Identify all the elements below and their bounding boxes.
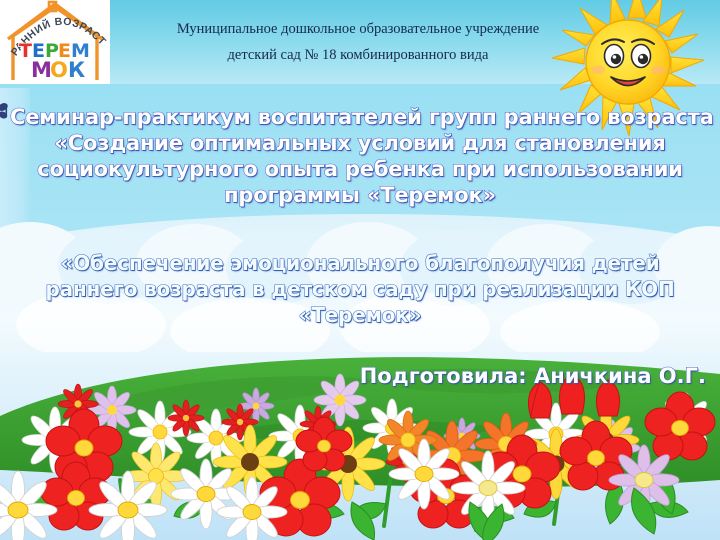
butterfly-icon	[0, 100, 18, 122]
seminar-subtitle: «Обеспечение эмоционального благополучия…	[0, 250, 720, 328]
logo-svg: РАННИЙ ВОЗРАСТ Т Е Р Е М М О К	[0, 0, 110, 84]
subtitle-line-3: «Теремок»	[0, 302, 720, 328]
presentation-slide: Муниципальное дошкольное образовательное…	[0, 0, 720, 540]
svg-text:М: М	[31, 58, 52, 82]
author-credit: Подготовила: Аничкина О.Г.	[0, 362, 706, 390]
title-line-2: «Создание оптимальных условий для станов…	[0, 130, 720, 156]
kindergarten-logo: РАННИЙ ВОЗРАСТ Т Е Р Е М М О К	[0, 0, 110, 84]
svg-text:О: О	[50, 58, 68, 82]
subtitle-line-1: «Обеспечение эмоционального благополучия…	[0, 250, 720, 276]
institution-line-1: Муниципальное дошкольное образовательное…	[177, 21, 539, 38]
title-line-4: программы «Теремок»	[0, 182, 720, 208]
seminar-title: Семинар-практикум воспитателей групп ран…	[0, 104, 720, 208]
institution-line-2: детский сад № 18 комбинированного вида	[228, 47, 489, 64]
author-text: Подготовила: Аничкина О.Г.	[360, 364, 706, 388]
title-line-1: Семинар-практикум воспитателей групп ран…	[0, 104, 720, 130]
title-line-3: социокультурного опыта ребенка при испол…	[0, 156, 720, 182]
institution-header: Муниципальное дошкольное образовательное…	[108, 4, 608, 80]
svg-text:К: К	[68, 58, 85, 82]
subtitle-line-2: раннего возраста в детском саду при реал…	[0, 276, 720, 302]
